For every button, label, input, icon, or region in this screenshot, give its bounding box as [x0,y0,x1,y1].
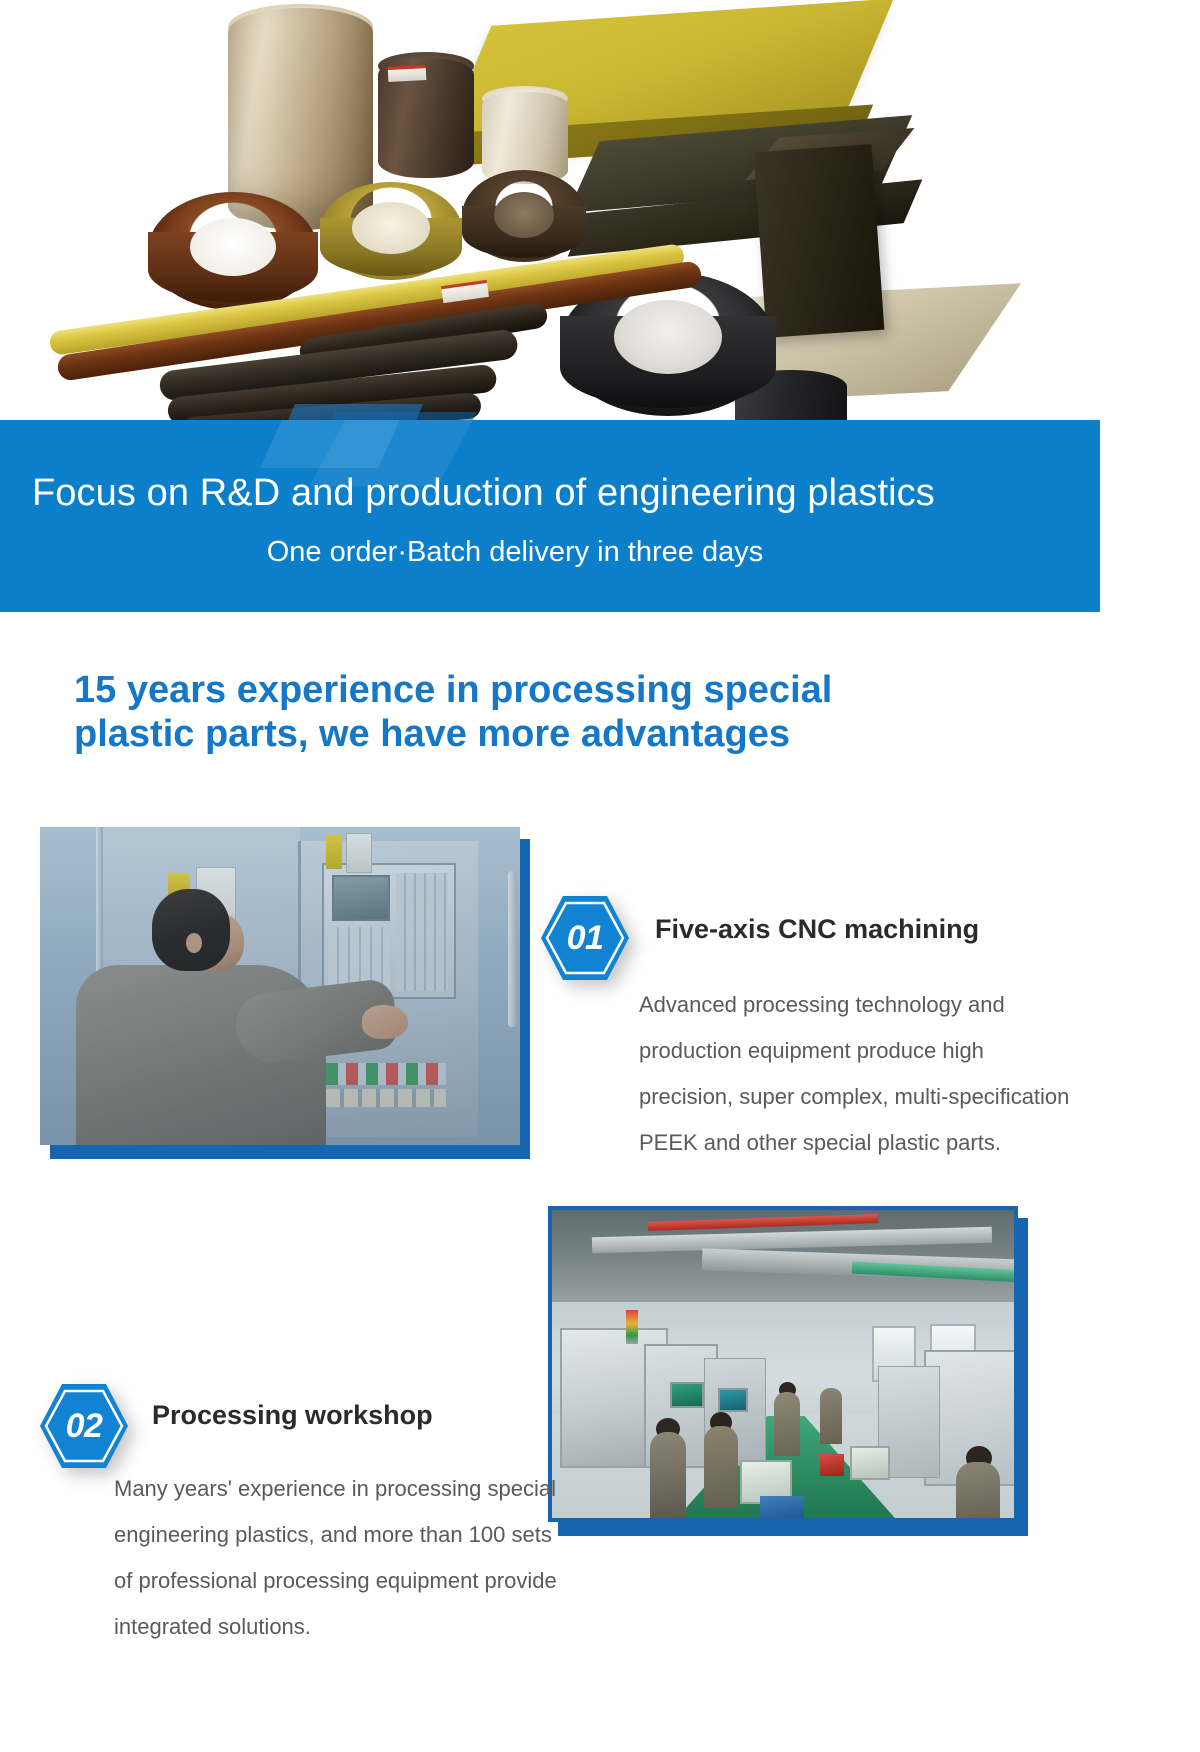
workshop-screen-a [670,1382,704,1408]
workshop-screen-b [718,1388,748,1412]
feature-02-image-frame [548,1206,1018,1524]
cylinder-label-sticker [388,65,427,82]
workshop-red-bin [820,1454,844,1476]
feature-02-photo [548,1206,1018,1522]
feature-02-description: Many years' experience in processing spe… [114,1466,564,1650]
hero-product-stage [0,0,1200,424]
workshop-worker-a [650,1432,686,1522]
feature-01-description: Advanced processing technology and produ… [639,982,1079,1166]
section-heading-line2: plastic parts, we have more advantages [74,712,1074,756]
workshop-worker-b [704,1426,738,1508]
feature-01-number: 01 [537,890,633,986]
feature-01-photo [40,827,520,1145]
dark-block [754,144,885,338]
tagline-banner: Focus on R&D and production of engineeri… [0,420,1100,612]
feature-01-image-frame [40,827,520,1147]
feature-01-number-badge: 01 [537,890,633,986]
feature-02-title: Processing workshop [152,1400,572,1431]
feature-02-number-badge: 02 [36,1378,132,1474]
banner-subheadline: One order·Batch delivery in three days [0,536,1030,569]
black-ring-bore [614,300,722,374]
feature-01-title: Five-axis CNC machining [655,914,1075,945]
workshop-signal-tower [626,1310,638,1344]
feature-01-photo-tint [40,827,520,1145]
section-heading-line1: 15 years experience in processing specia… [74,669,832,711]
banner-headline: Focus on R&D and production of engineeri… [32,472,1072,515]
hero-product-photo [0,0,1200,424]
rust-ring-bore [190,218,276,276]
workshop-blue-bin [760,1496,804,1518]
brass-ring-bore [352,202,430,254]
workshop-worker-d [820,1388,842,1444]
feature-02-number: 02 [36,1378,132,1474]
brown-ring-bore [494,192,554,238]
workshop-worker-e [956,1462,1000,1522]
workshop-worker-c [774,1392,800,1456]
workshop-cart-b [850,1446,890,1480]
section-heading: 15 years experience in processing specia… [74,668,1074,756]
